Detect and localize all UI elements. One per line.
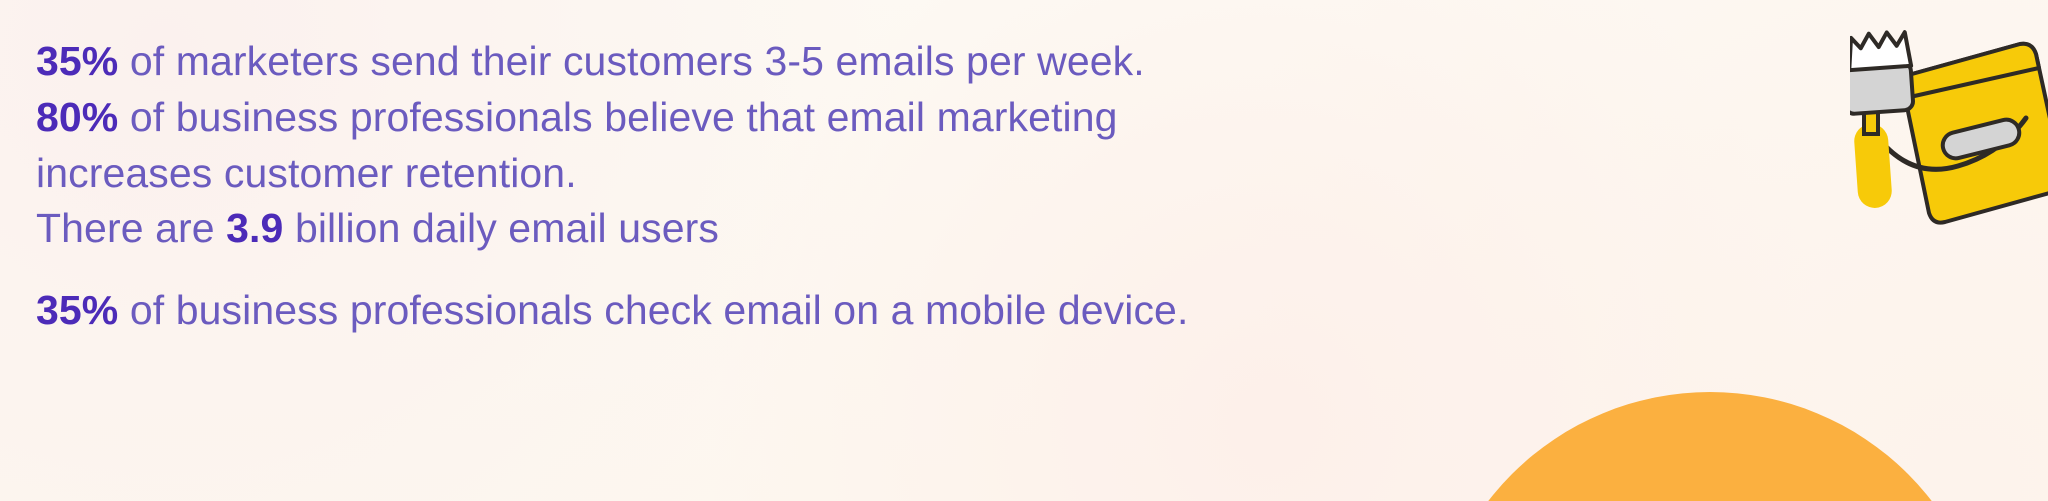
stat-prefix-there-are: There are — [36, 205, 226, 251]
statistics-list: 35% of marketers send their customers 3-… — [36, 34, 1636, 339]
stat-line-mobile-device: 35% of business professionals check emai… — [36, 283, 1636, 339]
stat-text-daily-email-users: billion daily email users — [283, 205, 719, 251]
stat-highlight-35-percent-mobile: 35% — [36, 287, 118, 333]
stat-text-emails-per-week: of marketers send their customers 3-5 em… — [118, 38, 1144, 84]
stat-line-emails-per-week: 35% of marketers send their customers 3-… — [36, 34, 1636, 90]
paint-brush-icon — [1850, 31, 1914, 209]
stat-text-customer-retention: of business professionals believe that e… — [36, 94, 1118, 196]
slide-canvas: 35% of marketers send their customers 3-… — [0, 0, 2048, 501]
stat-highlight-80-percent: 80% — [36, 94, 118, 140]
paint-bucket-and-brush-illustration — [1850, 14, 2048, 229]
stat-line-daily-email-users: There are 3.9 billion daily email users — [36, 201, 1636, 257]
orange-accent-circle — [1430, 392, 1990, 501]
stat-highlight-35-percent-emails: 35% — [36, 38, 118, 84]
stat-line-customer-retention: 80% of business professionals believe th… — [36, 90, 1266, 202]
stat-text-mobile-device: of business professionals check email on… — [118, 287, 1188, 333]
stat-highlight-3-9-billion: 3.9 — [226, 205, 283, 251]
